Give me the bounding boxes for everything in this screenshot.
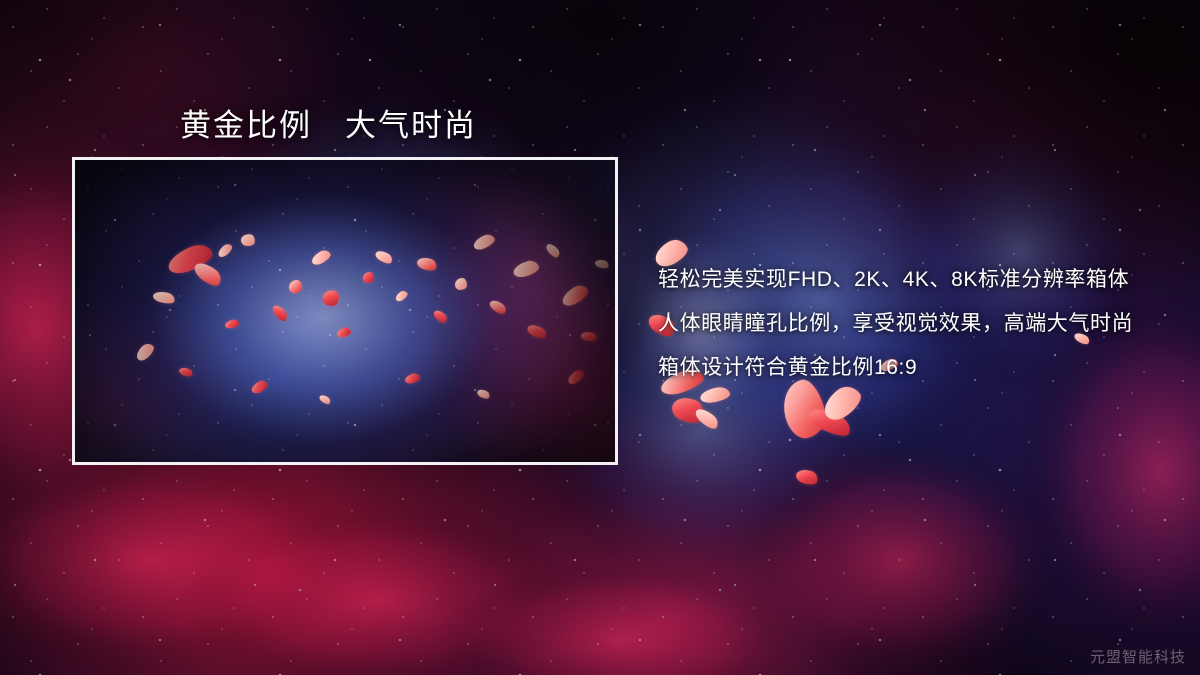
presentation-slide: 黄金比例 大气时尚 轻松完美实现FHD、2K、4K、8K标准分辨率箱体 人体眼睛… xyxy=(0,0,1200,675)
body-text-block: 轻松完美实现FHD、2K、4K、8K标准分辨率箱体 人体眼睛瞳孔比例，享受视觉效… xyxy=(658,258,1158,390)
body-line-1: 轻松完美实现FHD、2K、4K、8K标准分辨率箱体 xyxy=(658,258,1158,302)
watermark: 元盟智能科技 xyxy=(1090,646,1186,667)
photo-vignette xyxy=(75,160,615,462)
body-line-3: 箱体设计符合黄金比例16:9 xyxy=(658,346,1158,390)
body-line-2: 人体眼睛瞳孔比例，享受视觉效果，高端大气时尚 xyxy=(658,302,1158,346)
framed-photo xyxy=(72,157,618,465)
page-title: 黄金比例 大气时尚 xyxy=(180,100,477,145)
